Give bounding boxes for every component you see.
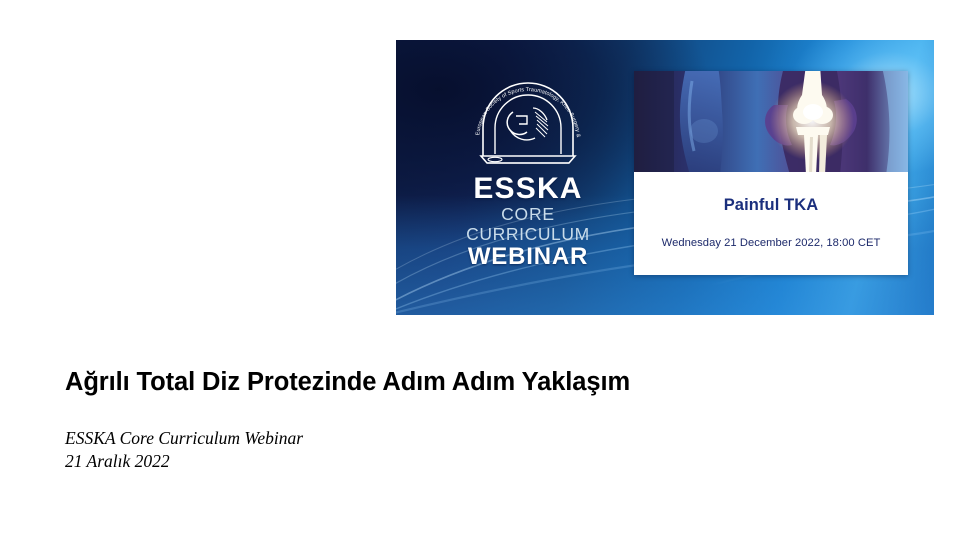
knee-joint-image <box>634 71 908 172</box>
card-title: Painful TKA <box>634 172 908 215</box>
logo-core-text: CORE <box>440 205 616 225</box>
esska-logo-block: European Society of Sports Traumatology,… <box>440 68 616 271</box>
card-caption-panel: Painful TKA Wednesday 21 December 2022, … <box>634 172 908 275</box>
page-title: Ağrılı Total Diz Protezinde Adım Adım Ya… <box>65 368 630 397</box>
webinar-announcement-card: Painful TKA Wednesday 21 December 2022, … <box>634 71 908 275</box>
svg-text:European Society of Sports Tra: European Society of Sports Traumatology,… <box>469 68 581 139</box>
card-date: Wednesday 21 December 2022, 18:00 CET <box>634 215 908 249</box>
esska-webinar-banner: European Society of Sports Traumatology,… <box>396 40 934 315</box>
logo-curriculum-text: CURRICULUM <box>440 225 616 245</box>
knee-illustration-icon <box>634 71 908 172</box>
page-subtitle: ESSKA Core Curriculum Webinar 21 Aralık … <box>65 427 303 473</box>
esska-emblem-icon: European Society of Sports Traumatology,… <box>469 68 587 172</box>
subtitle-line-2: 21 Aralık 2022 <box>65 450 303 473</box>
subtitle-line-1: ESSKA Core Curriculum Webinar <box>65 427 303 450</box>
logo-esska-text: ESSKA <box>440 174 616 205</box>
logo-webinar-text: WEBINAR <box>440 244 616 270</box>
